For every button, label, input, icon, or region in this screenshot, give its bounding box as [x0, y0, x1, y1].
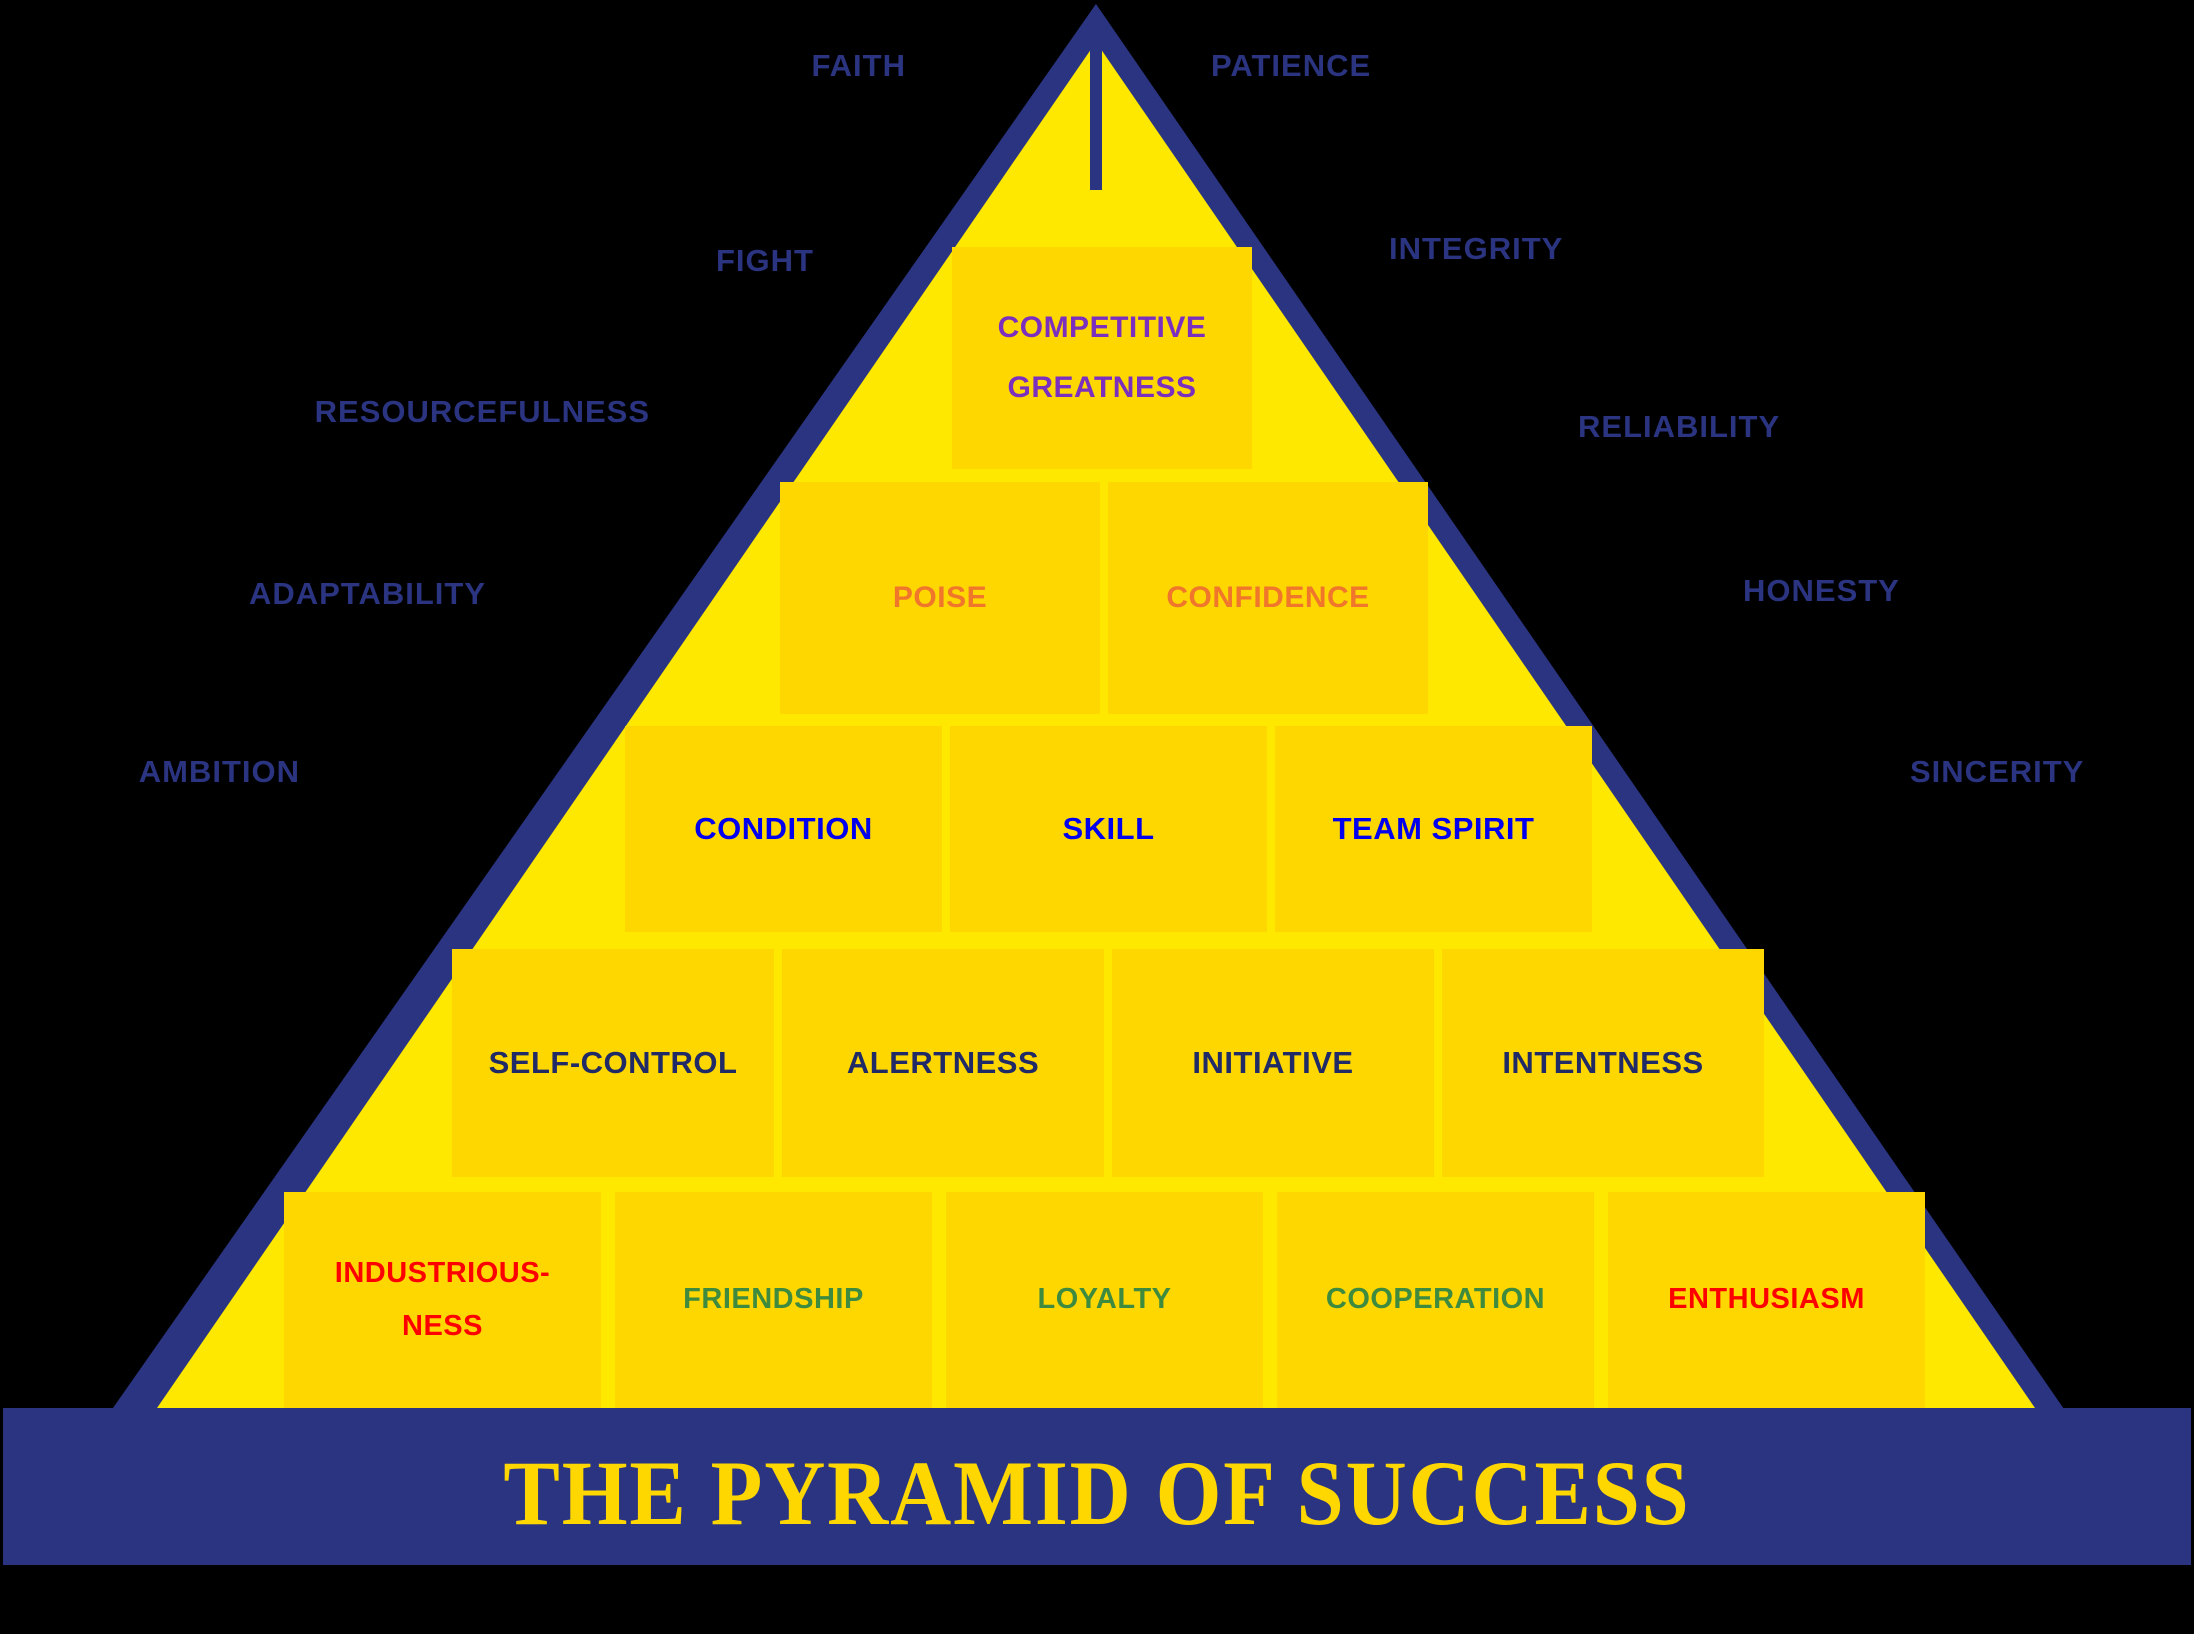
side-label-resourcefulness: RESOURCEFULNESS [315, 394, 650, 430]
block-label-competitive: COMPETITIVE [952, 308, 1252, 349]
side-label-ambition: AMBITION [139, 754, 300, 790]
block-label-alertness: ALERTNESS [782, 1042, 1104, 1084]
block-label-cooperation: COOPERATION [1277, 1280, 1594, 1319]
apex-divider [1090, 30, 1102, 190]
block-alertness[interactable]: ALERTNESS [782, 949, 1104, 1177]
block-label-enthusiasm: ENTHUSIASM [1608, 1280, 1925, 1319]
side-label-sincerity: SINCERITY [1910, 754, 2084, 790]
side-label-faith: FAITH [811, 48, 906, 84]
block-label-team-spirit: TEAM SPIRIT [1275, 808, 1592, 850]
block-industriousness[interactable]: INDUSTRIOUS- NESS [284, 1192, 601, 1408]
block-label-friendship: FRIENDSHIP [615, 1280, 932, 1319]
block-intentness[interactable]: INTENTNESS [1442, 949, 1764, 1177]
block-initiative[interactable]: INITIATIVE [1112, 949, 1434, 1177]
block-confidence[interactable]: CONFIDENCE [1108, 482, 1428, 714]
block-enthusiasm[interactable]: ENTHUSIASM [1608, 1192, 1925, 1408]
block-condition[interactable]: CONDITION [625, 726, 942, 932]
block-skill[interactable]: SKILL [950, 726, 1267, 932]
block-competitive-greatness[interactable]: COMPETITIVE GREATNESS [952, 247, 1252, 469]
page-title: THE PYRAMID OF SUCCESS [88, 1440, 2106, 1546]
block-cooperation[interactable]: COOPERATION [1277, 1192, 1594, 1408]
side-label-integrity: INTEGRITY [1389, 231, 1563, 267]
block-label-self-control: SELF-CONTROL [452, 1042, 774, 1084]
block-self-control[interactable]: SELF-CONTROL [452, 949, 774, 1177]
block-label-industrious: INDUSTRIOUS- [284, 1254, 601, 1293]
block-label-condition: CONDITION [625, 808, 942, 850]
side-label-fight: FIGHT [716, 243, 814, 279]
block-team-spirit[interactable]: TEAM SPIRIT [1275, 726, 1592, 932]
side-label-reliability: RELIABILITY [1578, 409, 1780, 445]
side-label-patience: PATIENCE [1211, 48, 1371, 84]
block-label-ness: NESS [284, 1307, 601, 1346]
block-loyalty[interactable]: LOYALTY [946, 1192, 1263, 1408]
block-label-intentness: INTENTNESS [1442, 1042, 1764, 1084]
block-label-initiative: INITIATIVE [1112, 1042, 1434, 1084]
side-label-honesty: HONESTY [1743, 573, 1900, 609]
block-label-poise: POISE [780, 578, 1100, 619]
block-friendship[interactable]: FRIENDSHIP [615, 1192, 932, 1408]
side-label-adaptability: ADAPTABILITY [249, 576, 486, 612]
block-label-loyalty: LOYALTY [946, 1280, 1263, 1319]
pyramid-of-success-diagram: COMPETITIVE GREATNESS POISE CONFIDENCE C… [0, 0, 2194, 1634]
block-label-confidence: CONFIDENCE [1108, 578, 1428, 619]
block-label-greatness: GREATNESS [952, 368, 1252, 409]
block-label-skill: SKILL [950, 808, 1267, 850]
block-poise[interactable]: POISE [780, 482, 1100, 714]
